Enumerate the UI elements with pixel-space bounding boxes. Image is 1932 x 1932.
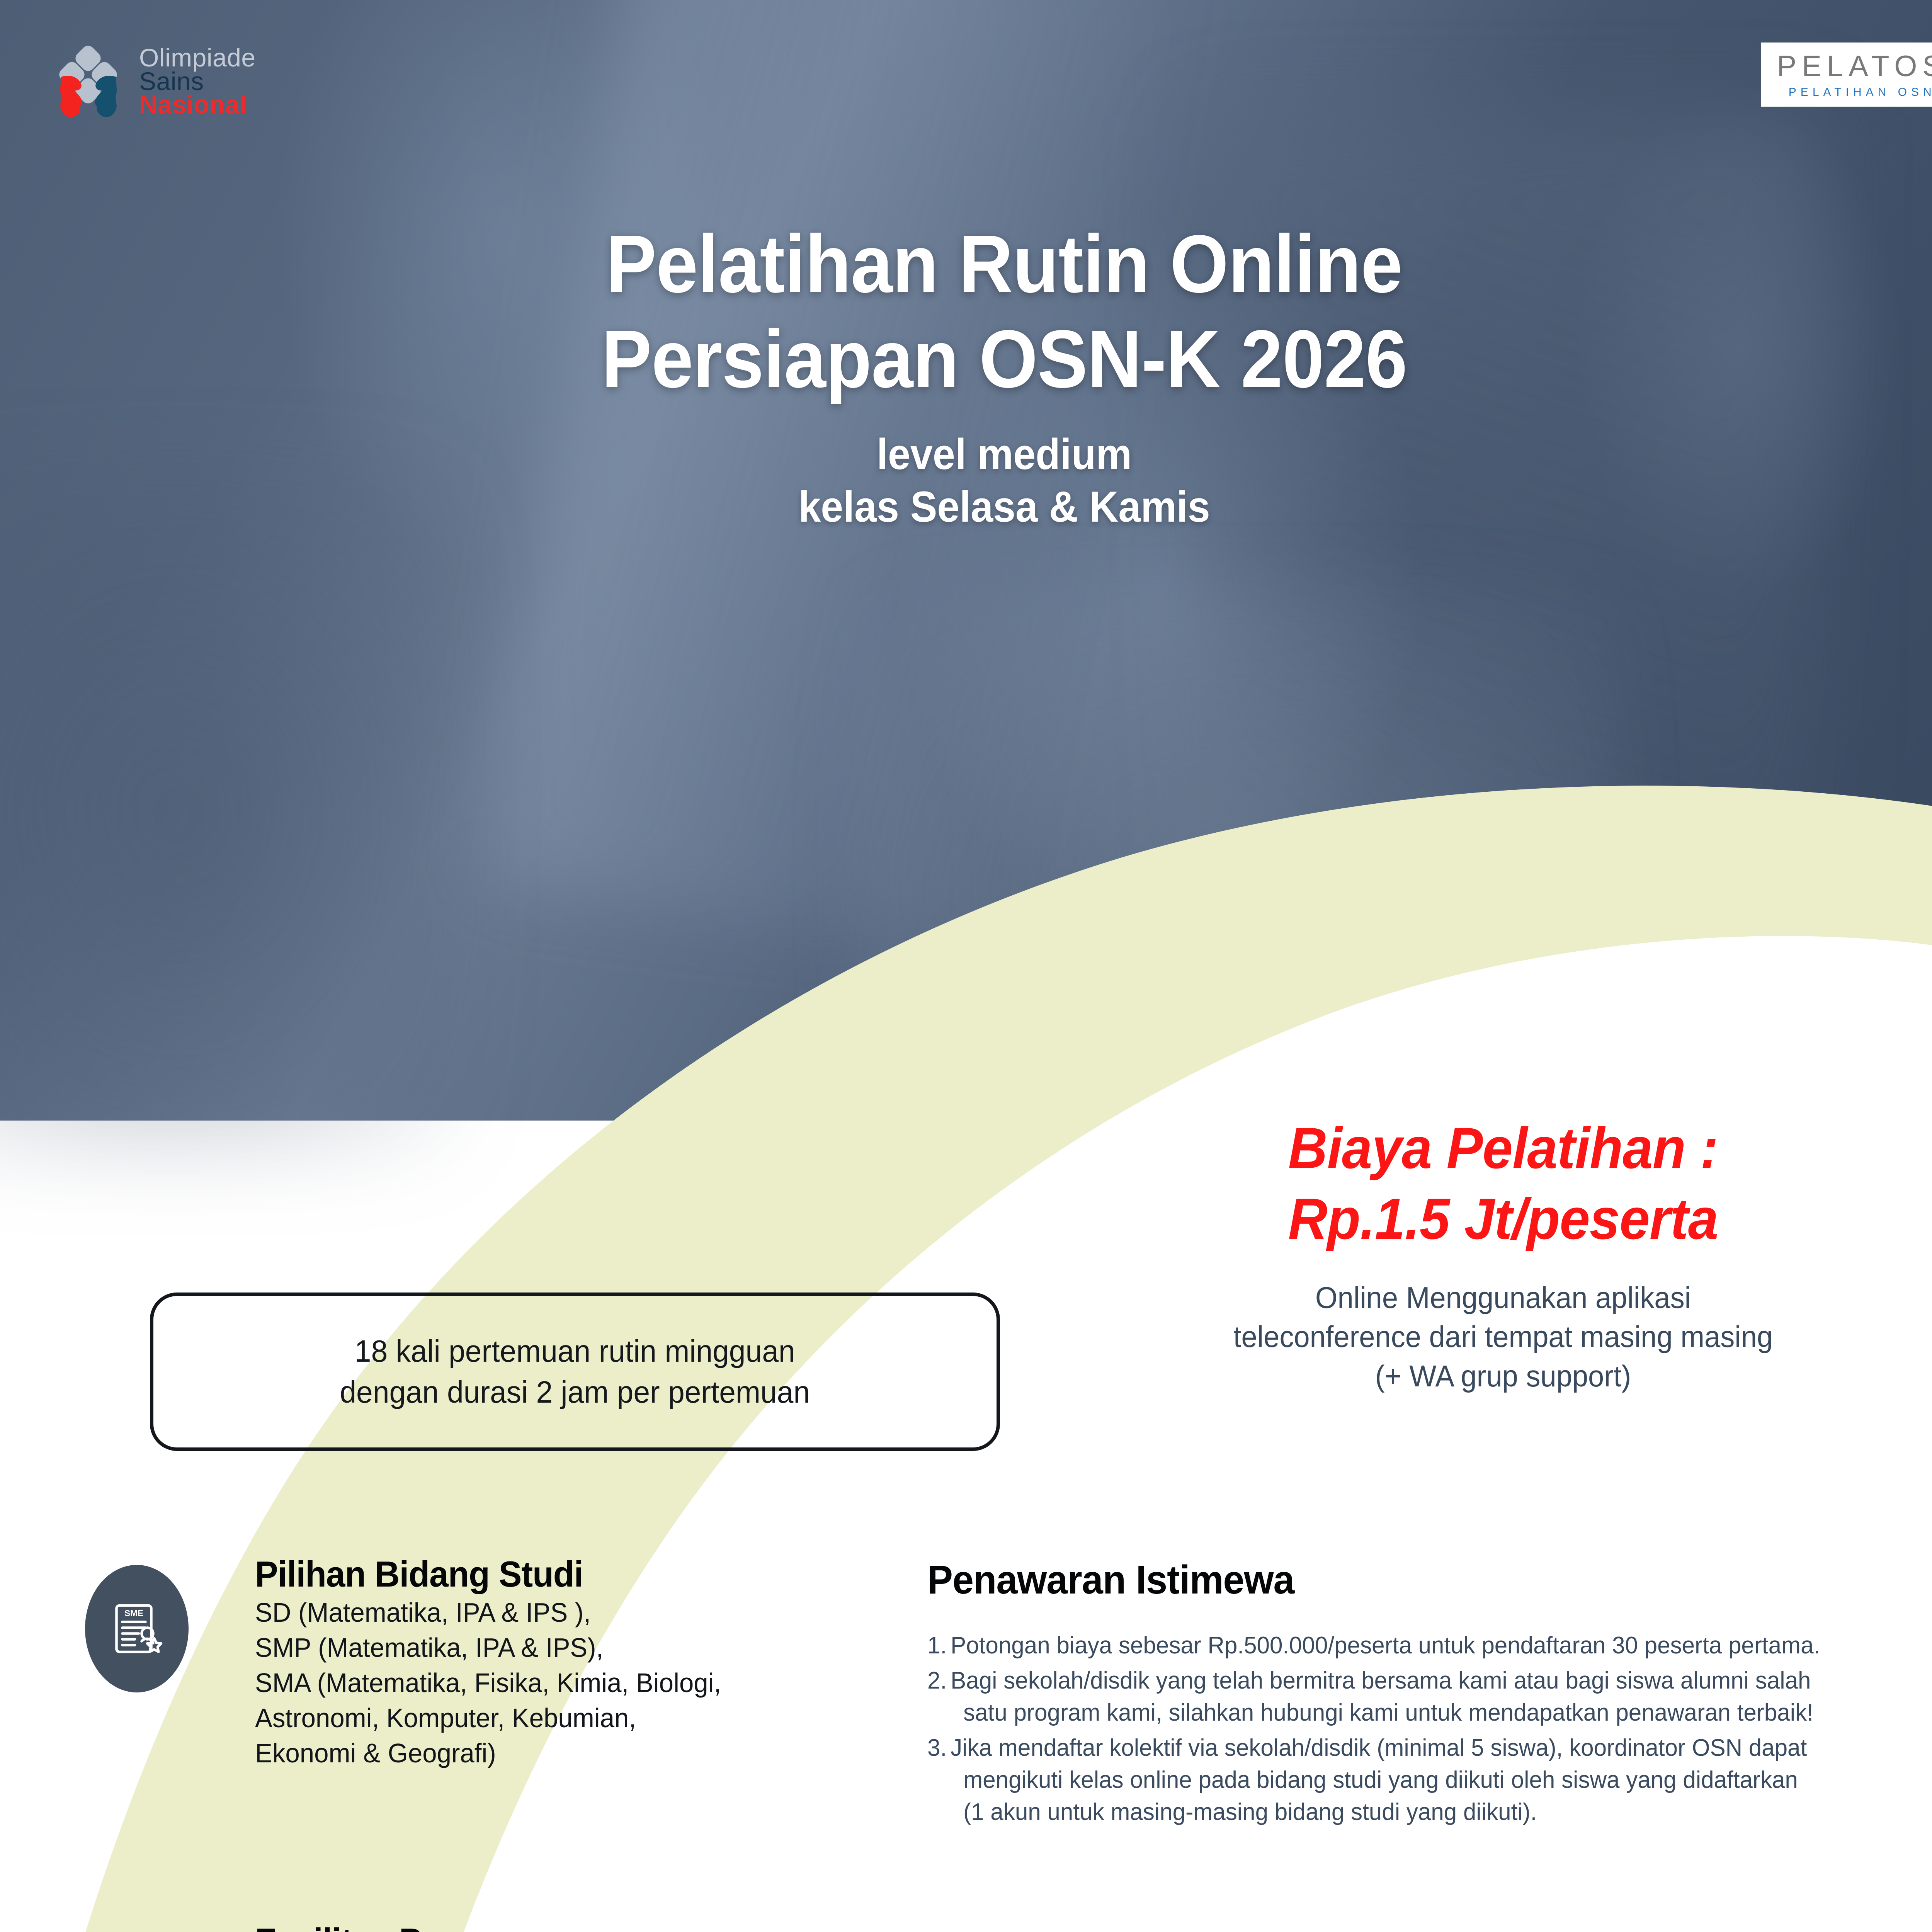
hero-subtitle-line2: kelas Selasa & Kamis [70,481,1932,534]
certificate-icon-svg: SME [106,1598,168,1660]
penawaran-item-text: Jika mendaftar kolektif via sekolah/disd… [951,1732,1932,1828]
olimpiade-sains-nasional-logo: Olimpiade Sains Nasional [54,31,371,131]
penawaran-item-number: 3. [927,1732,951,1828]
osn-logo-line2: Sains [139,70,256,93]
certificate-icon: SME [85,1565,189,1692]
pelatos-tagline: PELATIHAN OSN [1777,87,1932,98]
pelatos-logo: PELATOS PELATIHAN OSN [1761,43,1932,107]
price-note-line1: Online Menggunakan aplikasi [1114,1278,1892,1317]
penawaran-item: 2. Bagi sekolah/disdik yang telah bermit… [927,1665,1932,1729]
osn-cube-icon [54,41,128,122]
penawaran-item-text: Potongan biaya sebesar Rp.500.000/pesert… [951,1629,1932,1662]
fasilitas-heading: Fasilitas Program [255,1920,828,1932]
bidang-studi-heading: Pilihan Bidang Studi [255,1553,828,1595]
bidang-studi-line: Astronomi, Komputer, Kebumian, [255,1701,834,1736]
session-count-box: 18 kali pertemuan rutin mingguan dengan … [150,1293,1000,1451]
penawaran-item-number: 2. [927,1665,951,1729]
penawaran-item-main: Bagi sekolah/disdik yang telah bermitra … [951,1667,1811,1694]
osn-cube-svg [54,41,128,122]
price-note: Online Menggunakan aplikasi teleconferen… [1114,1278,1892,1396]
section-bidang-studi: Pilihan Bidang Studi SD (Matematika, IPA… [255,1553,858,1771]
poster-root: Olimpiade Sains Nasional PELATOS PELATIH… [0,0,1932,1932]
penawaran-item: 1. Potongan biaya sebesar Rp.500.000/pes… [927,1629,1932,1662]
section-penawaran-istimewa: Penawaran Istimewa 1. Potongan biaya seb… [927,1557,1932,1831]
pelatos-wordmark: PELATOS [1777,52,1932,81]
penawaran-item-sub: mengikuti kelas online pada bidang studi… [951,1764,1932,1796]
hero-title-block: Pelatihan Rutin Online Persiapan OSN-K 2… [0,216,1932,534]
penawaran-item-main: Jika mendaftar kolektif via sekolah/disd… [951,1735,1807,1761]
penawaran-item-number: 1. [927,1629,951,1662]
price-block: Biaya Pelatihan : Rp.1.5 Jt/peserta Onli… [1094,1113,1913,1396]
osn-logo-line1: Olimpiade [139,46,256,70]
penawaran-item: 3. Jika mendaftar kolektif via sekolah/d… [927,1732,1932,1828]
session-box-line2: dengan durasi 2 jam per pertemuan [340,1372,810,1413]
section-fasilitas-program: Fasilitas Program - Pertemuan online int… [255,1920,858,1932]
osn-logo-wordmark: Olimpiade Sains Nasional [139,46,256,116]
bidang-studi-line: SMA (Matematika, Fisika, Kimia, Biologi, [255,1665,834,1701]
hero-title-line1: Pelatihan Rutin Online [80,216,1928,311]
svg-text:SME: SME [124,1609,143,1618]
penawaran-item-sub: (1 akun untuk masing-masing bidang studi… [951,1796,1932,1828]
price-note-line2: teleconference dari tempat masing masing [1114,1317,1892,1356]
bidang-studi-line: SMP (Matematika, IPA & IPS), [255,1630,834,1665]
price-note-line3: (+ WA grup support) [1114,1357,1892,1396]
hero-title-line2: Persiapan OSN-K 2026 [80,311,1928,406]
bidang-studi-line: SD (Matematika, IPA & IPS ), [255,1595,834,1630]
session-box-line1: 18 kali pertemuan rutin mingguan [355,1331,795,1372]
osn-logo-line3: Nasional [139,93,256,116]
hero-subtitle-line1: level medium [70,428,1932,481]
penawaran-list: 1. Potongan biaya sebesar Rp.500.000/pes… [927,1629,1932,1828]
penawaran-heading: Penawaran Istimewa [927,1557,1911,1603]
bidang-studi-list: SD (Matematika, IPA & IPS ), SMP (Matema… [255,1595,834,1771]
price-amount: Rp.1.5 Jt/peserta [1118,1184,1888,1254]
penawaran-item-sub: satu program kami, silahkan hubungi kami… [951,1697,1932,1729]
price-label: Biaya Pelatihan : [1118,1113,1888,1184]
penawaran-item-text: Bagi sekolah/disdik yang telah bermitra … [951,1665,1932,1729]
bidang-studi-line: Ekonomi & Geografi) [255,1736,834,1771]
